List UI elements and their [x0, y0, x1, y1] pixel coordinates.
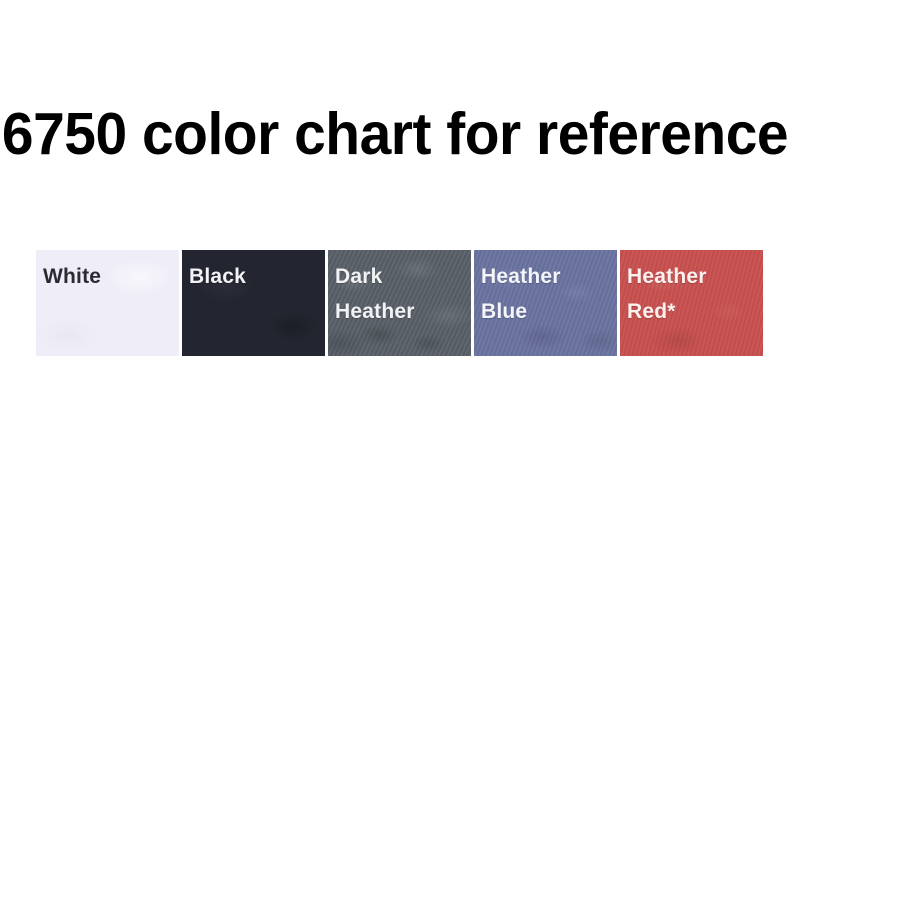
- color-swatch-heather-blue[interactable]: Heather Blue: [474, 250, 617, 356]
- color-swatch-label: Heather Blue: [481, 259, 609, 329]
- color-swatch-white[interactable]: White: [36, 250, 179, 356]
- color-swatch-label: Dark Heather: [335, 259, 463, 329]
- color-swatch-black[interactable]: Black: [182, 250, 325, 356]
- page-root: 6750 color chart for reference White Bla…: [0, 0, 900, 900]
- color-swatch-label: White: [43, 259, 171, 294]
- color-swatch-label: Heather Red*: [627, 259, 755, 329]
- color-swatch-label: Black: [189, 259, 317, 294]
- color-swatch-heather-red[interactable]: Heather Red*: [620, 250, 763, 356]
- page-title: 6750 color chart for reference: [0, 98, 869, 170]
- color-swatch-dark-heather[interactable]: Dark Heather: [328, 250, 471, 356]
- color-swatch-strip: White Black Dark Heather Heather Blue He…: [36, 250, 763, 356]
